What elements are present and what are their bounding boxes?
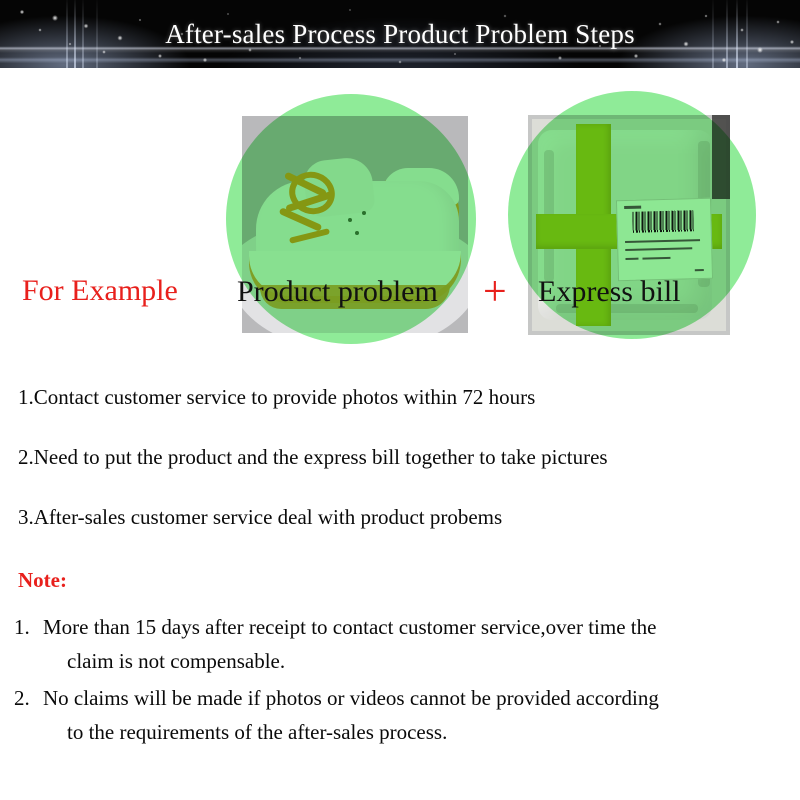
note-item-number: 2. <box>14 681 40 749</box>
note-item: 1. More than 15 days after receipt to co… <box>14 610 794 678</box>
plus-icon: + <box>483 271 507 313</box>
label-text-line <box>695 268 704 270</box>
label-text-line <box>625 238 699 242</box>
note-item-line: to the requirements of the after-sales p… <box>43 715 794 749</box>
note-item-line: More than 15 days after receipt to conta… <box>43 610 794 644</box>
label-text-line <box>626 246 693 250</box>
label-text-line <box>642 256 670 259</box>
product-problem-caption: Product problem <box>237 277 438 307</box>
label-text-line <box>626 257 639 259</box>
note-item-text: No claims will be made if photos or vide… <box>40 681 794 749</box>
steps-list: 1.Contact customer service to provide ph… <box>0 386 800 566</box>
step-item: 3.After-sales customer service deal with… <box>18 506 800 529</box>
note-item-line: claim is not compensable. <box>43 644 794 678</box>
parcel-background-strip <box>712 115 730 199</box>
express-bill-caption: Express bill <box>538 277 681 307</box>
shoe-eyelet <box>355 231 359 235</box>
example-section: For Example Product problem + <box>0 68 800 358</box>
for-example-label: For Example <box>22 276 178 306</box>
note-title: Note: <box>18 570 67 591</box>
barcode-icon <box>632 210 694 232</box>
step-item: 1.Contact customer service to provide ph… <box>18 386 800 409</box>
note-item-number: 1. <box>14 610 40 678</box>
header-banner: After-sales Process Product Problem Step… <box>0 0 800 68</box>
note-list: 1. More than 15 days after receipt to co… <box>14 610 794 752</box>
step-item: 2.Need to put the product and the expres… <box>18 446 800 469</box>
note-item: 2. No claims will be made if photos or v… <box>14 681 794 749</box>
note-item-text: More than 15 days after receipt to conta… <box>40 610 794 678</box>
note-item-line: No claims will be made if photos or vide… <box>43 681 794 715</box>
label-text-line <box>624 205 641 208</box>
shipping-label <box>616 197 713 281</box>
page-title: After-sales Process Product Problem Step… <box>0 0 800 68</box>
